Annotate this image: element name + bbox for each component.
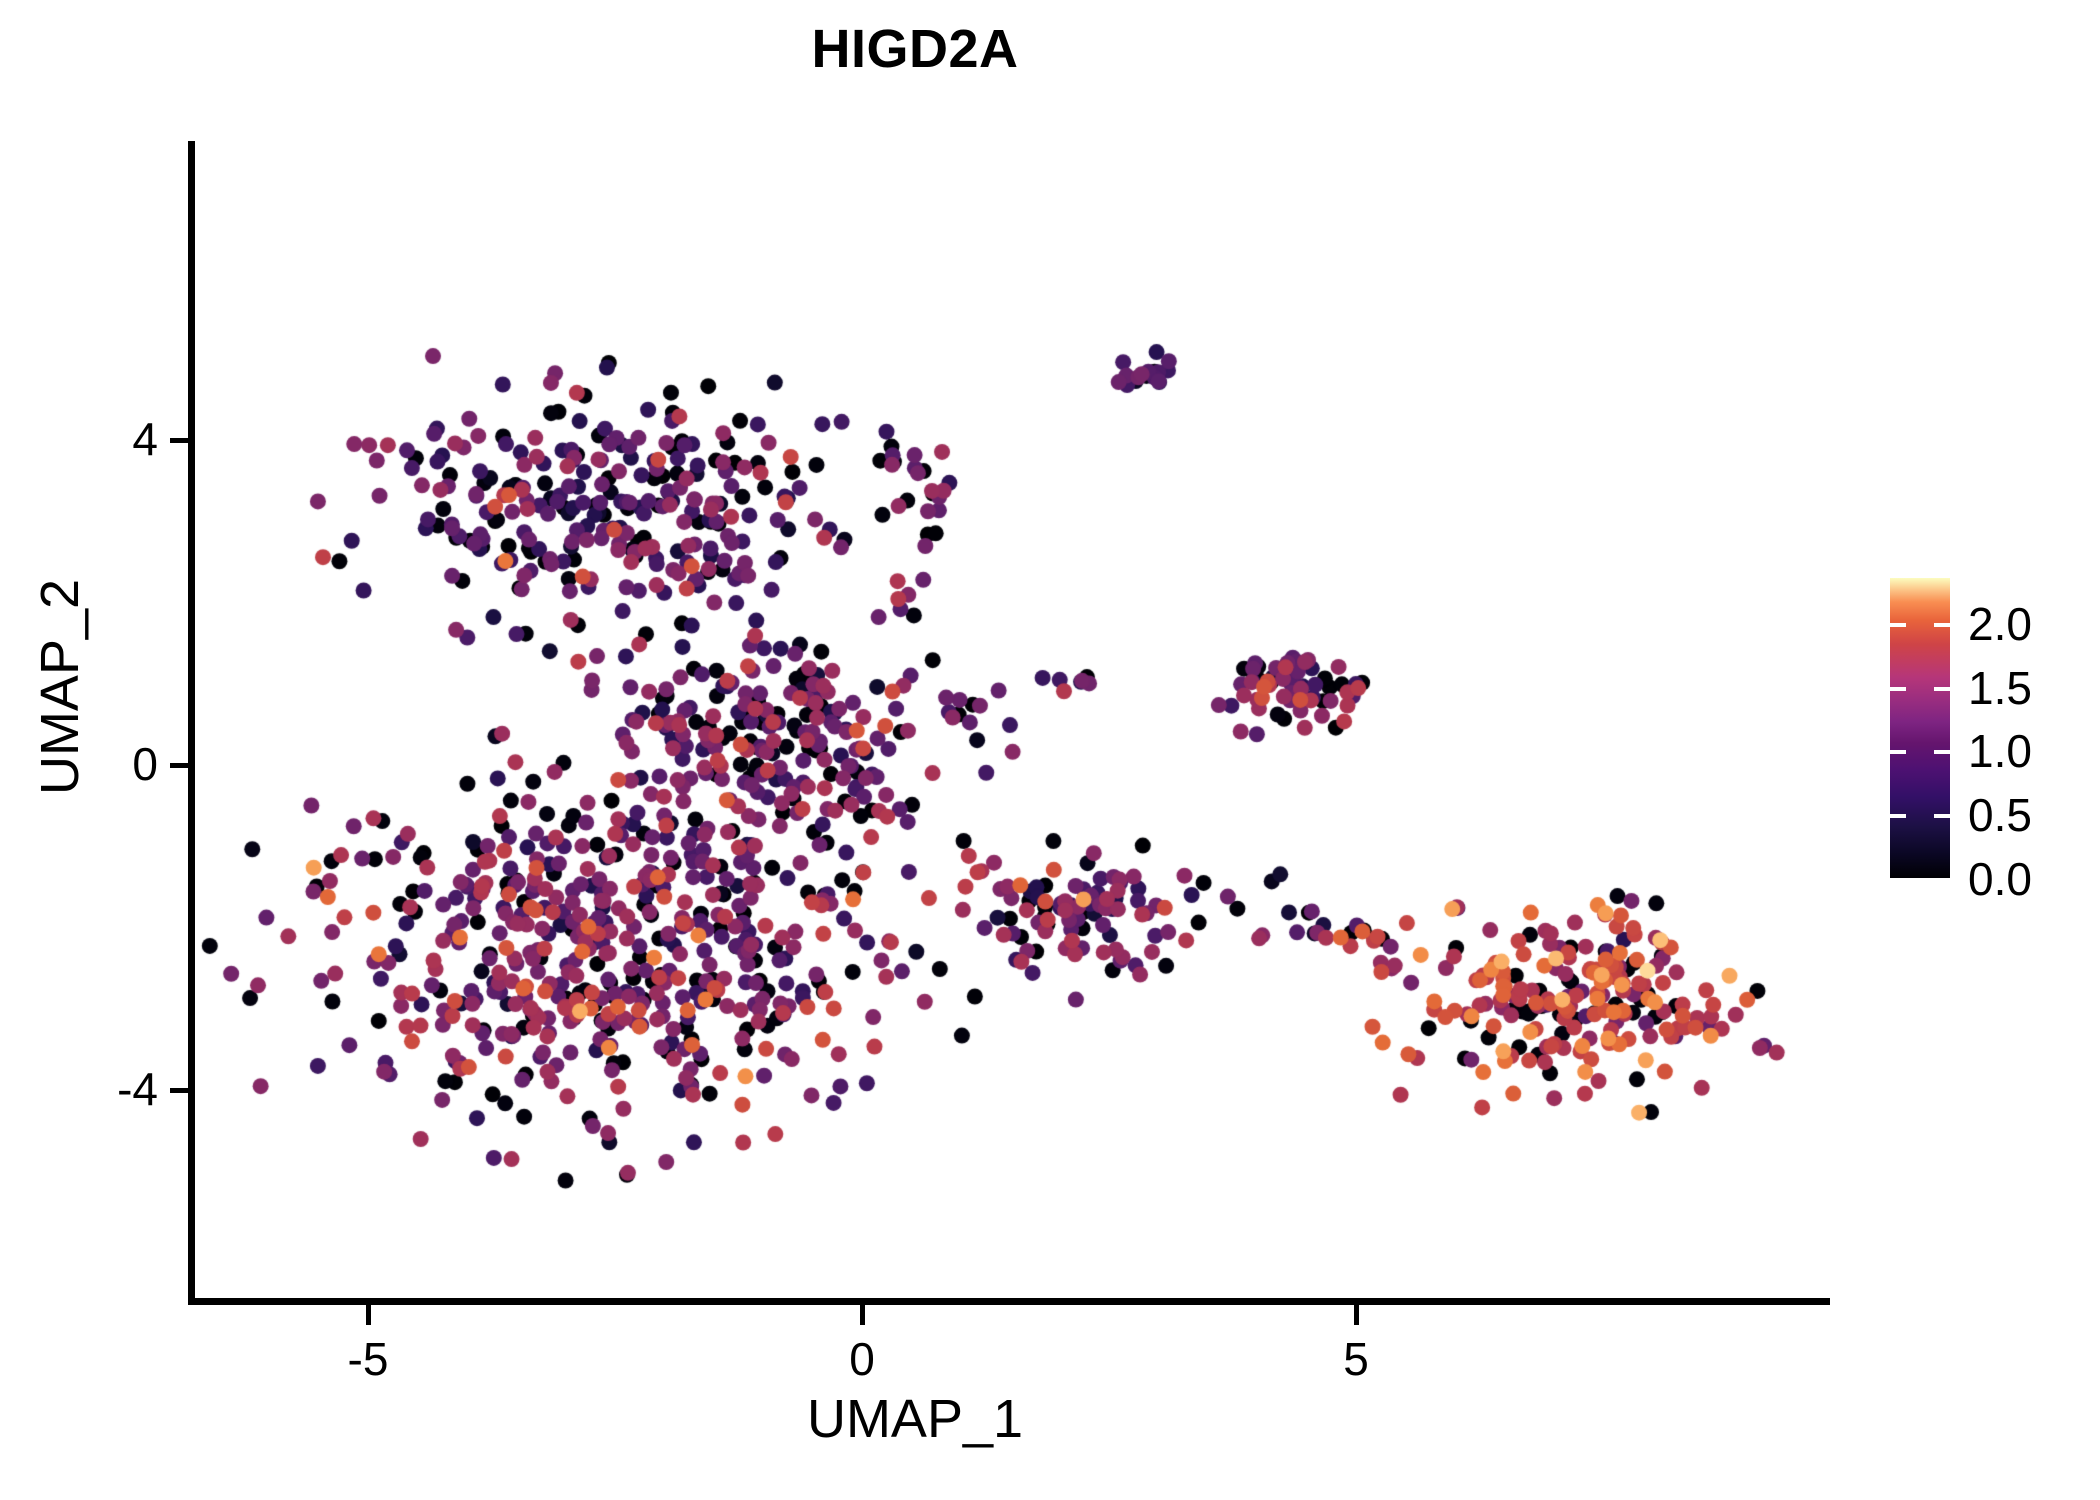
colorbar-tick-mark xyxy=(1890,750,1950,754)
x-tick-label: 0 xyxy=(782,1336,942,1382)
x-tick-mark xyxy=(1354,1305,1359,1325)
scatter-points-layer xyxy=(194,141,1830,1301)
y-tick-mark xyxy=(170,763,188,768)
colorbar-tick-mark xyxy=(1890,878,1950,882)
plot-panel xyxy=(194,141,1830,1301)
x-tick-label: -5 xyxy=(288,1336,448,1382)
x-axis-line xyxy=(188,1298,1830,1305)
y-axis-line xyxy=(188,141,195,1305)
legend-colorbar: 2.01.51.00.50.0 xyxy=(1884,560,2094,900)
y-tick-label: -4 xyxy=(0,1066,158,1112)
y-tick-mark xyxy=(170,1088,188,1093)
colorbar-tick-label: 1.5 xyxy=(1968,665,2032,711)
x-tick-mark xyxy=(860,1305,865,1325)
x-tick-label: 5 xyxy=(1276,1336,1436,1382)
colorbar-tick-label: 0.0 xyxy=(1968,856,2032,902)
umap-feature-plot: HIGD2A -50540-4 UMAP_1 UMAP_2 2.01.51.00… xyxy=(0,0,2100,1500)
x-axis-title: UMAP_1 xyxy=(0,1392,1830,1446)
colorbar-tick-mark xyxy=(1890,623,1950,627)
colorbar-tick-mark xyxy=(1890,814,1950,818)
x-tick-mark xyxy=(366,1305,371,1325)
y-tick-mark xyxy=(170,438,188,443)
colorbar-tick-label: 1.0 xyxy=(1968,728,2032,774)
colorbar-tick-label: 2.0 xyxy=(1968,601,2032,647)
colorbar-tick-mark xyxy=(1890,687,1950,691)
y-axis-title: UMAP_2 xyxy=(33,387,87,987)
page-title: HIGD2A xyxy=(0,22,1830,76)
colorbar-tick-label: 0.5 xyxy=(1968,792,2032,838)
